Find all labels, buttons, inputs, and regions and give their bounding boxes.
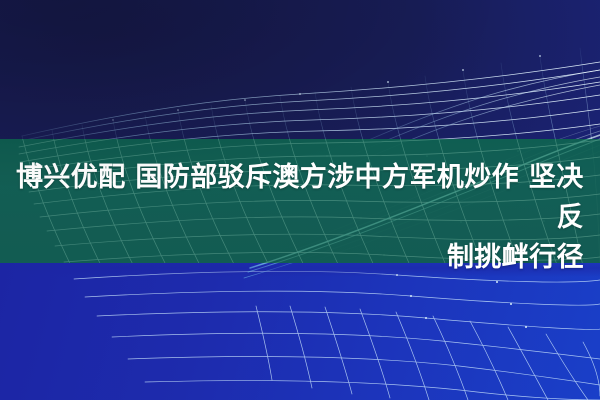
headline-line-2: 制挑衅行径 [16, 238, 584, 278]
headline-line-1: 博兴优配 国防部驳斥澳方涉中方军机炒作 坚决反 [16, 158, 584, 238]
news-banner: 博兴优配 国防部驳斥澳方涉中方军机炒作 坚决反 制挑衅行径 [0, 0, 600, 400]
headline-text: 博兴优配 国防部驳斥澳方涉中方军机炒作 坚决反 制挑衅行径 [0, 158, 600, 278]
